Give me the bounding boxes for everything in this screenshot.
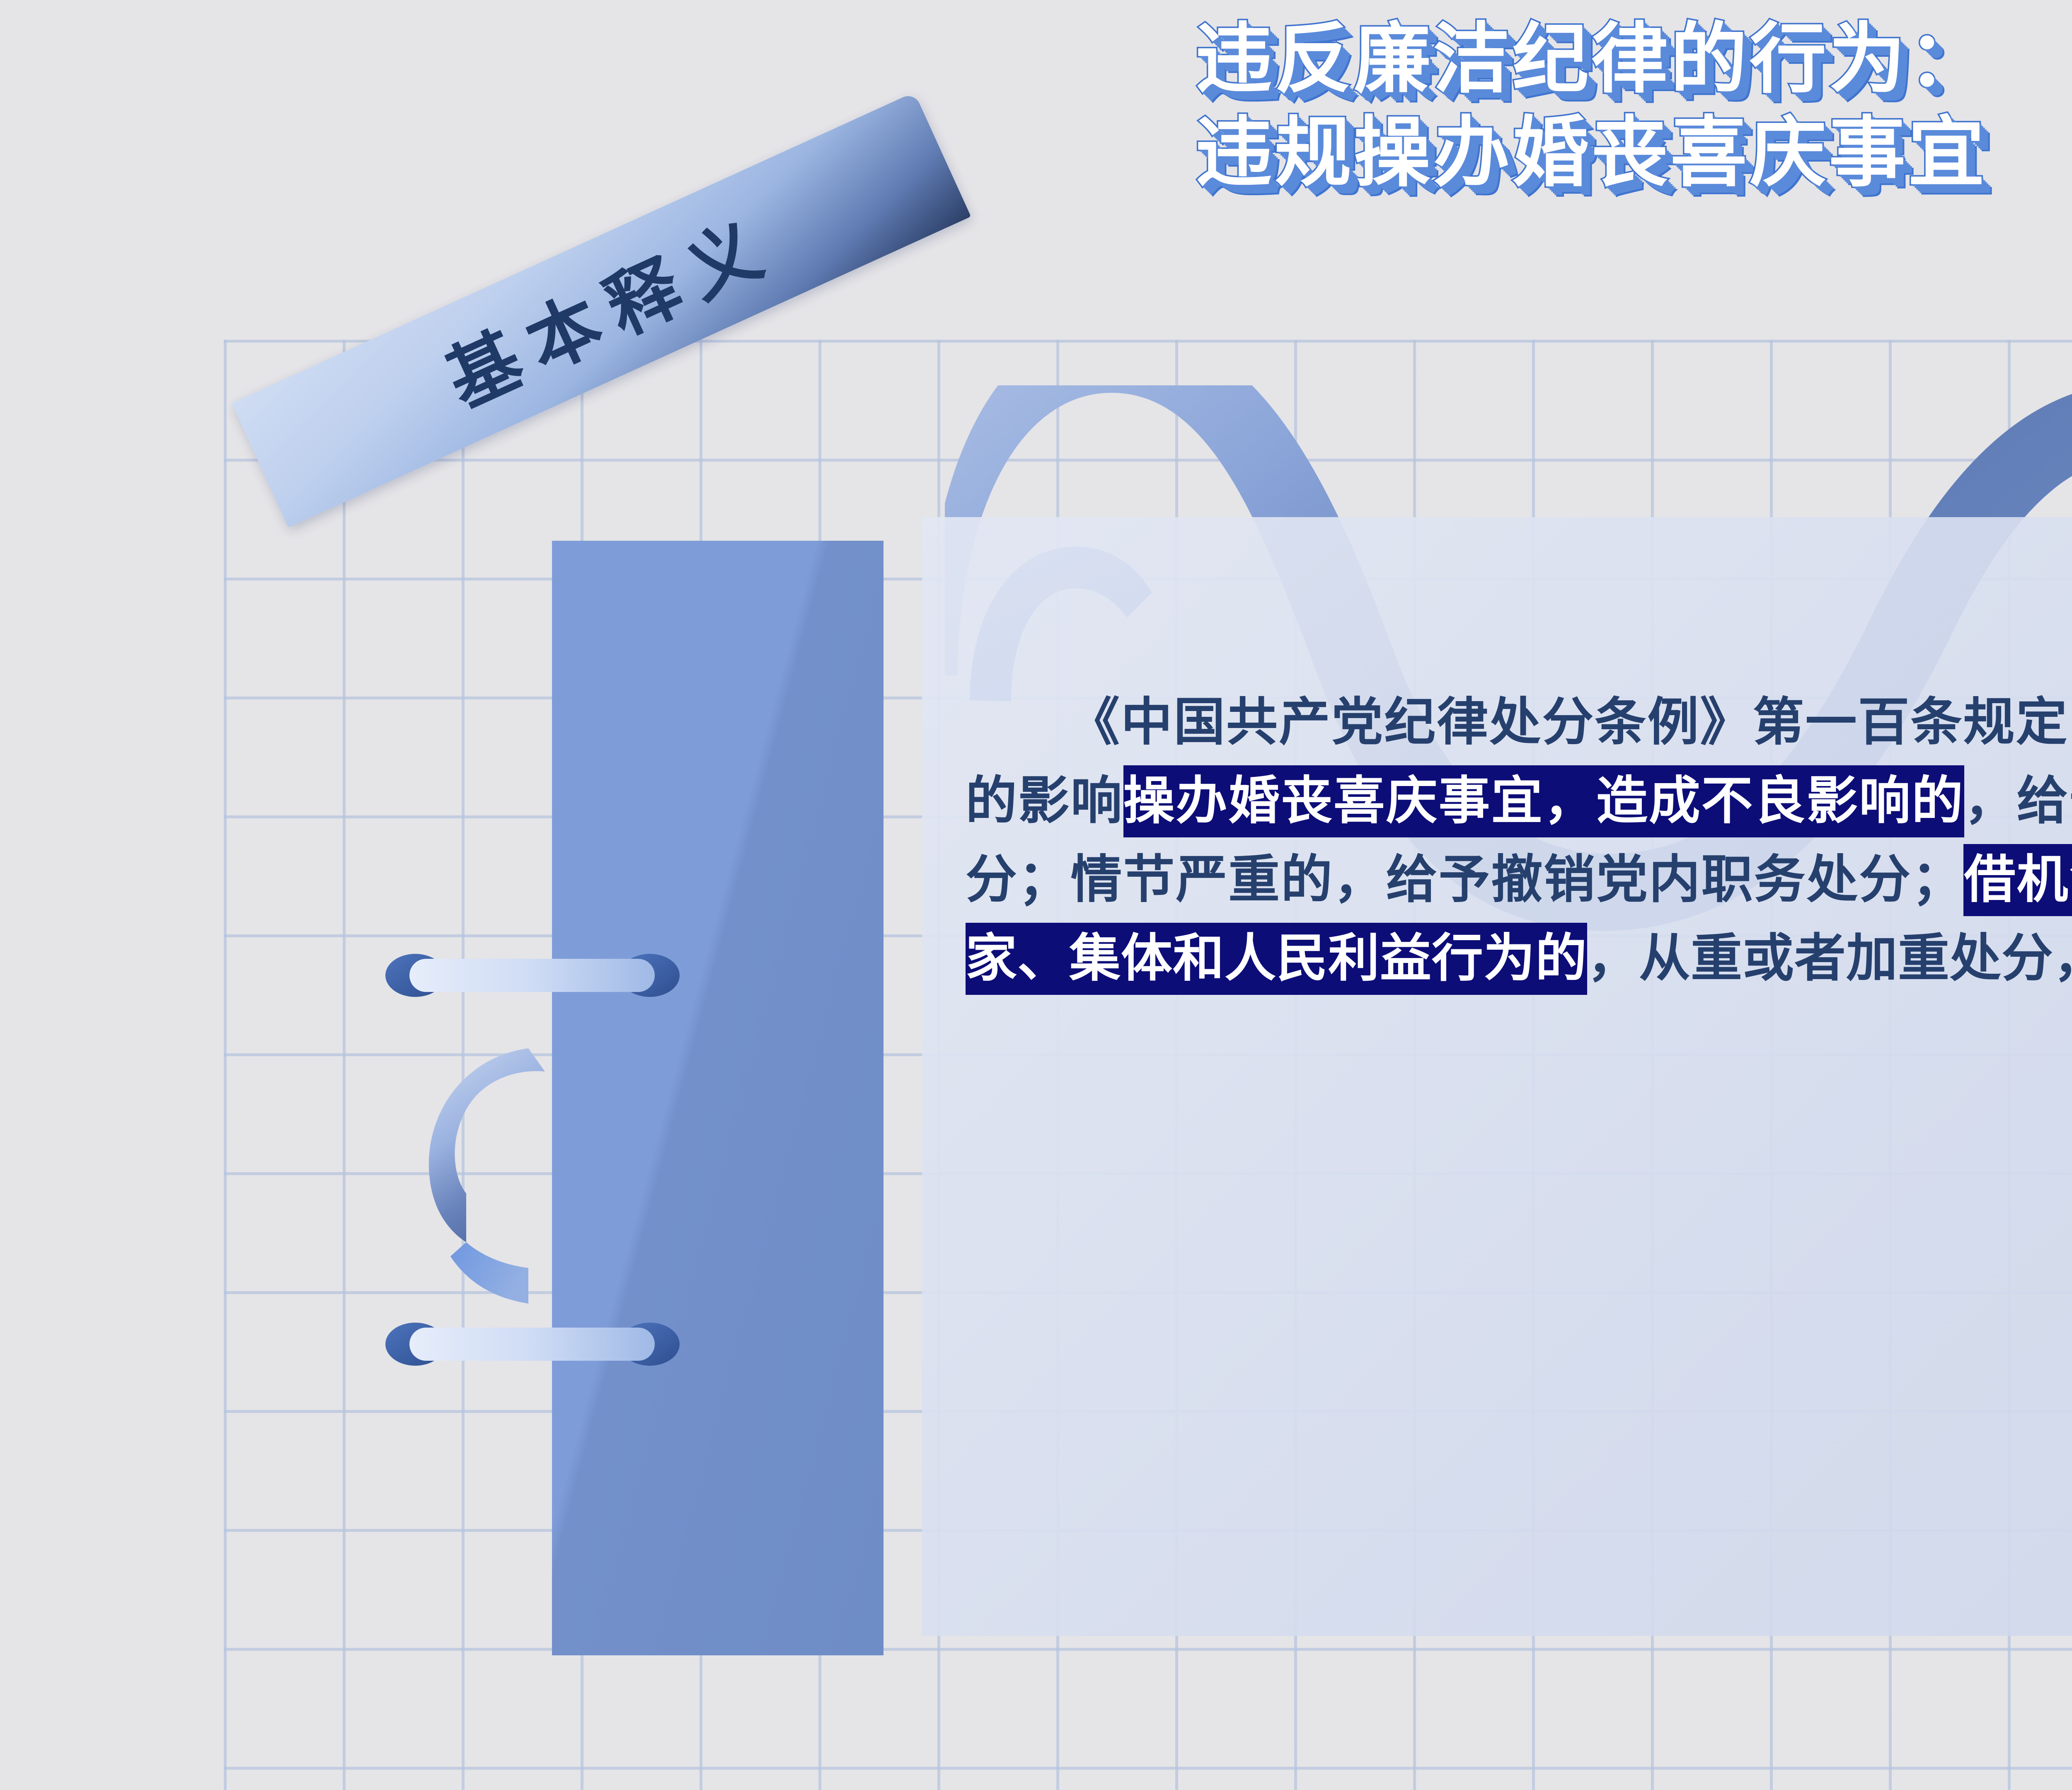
spiral-lower (450, 1242, 528, 1304)
banner-label: 基本释义 (414, 186, 789, 433)
title-line-1: 违反廉洁纪律的行为： (0, 12, 2072, 106)
page-title: 违反廉洁纪律的行为： 违规操办婚丧喜庆事宜 (0, 0, 2072, 199)
highlighted-clause: 操办婚丧喜庆事宜，造成不良影响的 (1123, 765, 1964, 837)
title-line-2: 违规操办婚丧喜庆事宜 (0, 106, 2072, 200)
article-body: 《中国共产党纪律处分条例》第一百条规定，利用职权或者职务上的影响操办婚丧喜庆事宜… (966, 683, 2072, 998)
binder-ring-icon (385, 1318, 680, 1371)
binder-ring-icon (385, 949, 680, 1002)
spiral-upper (429, 1048, 545, 1242)
article-text-run: ，从重或者加重处分，直至开除党籍。 (1587, 929, 2072, 988)
spiral-curl-shape (404, 1003, 636, 1351)
